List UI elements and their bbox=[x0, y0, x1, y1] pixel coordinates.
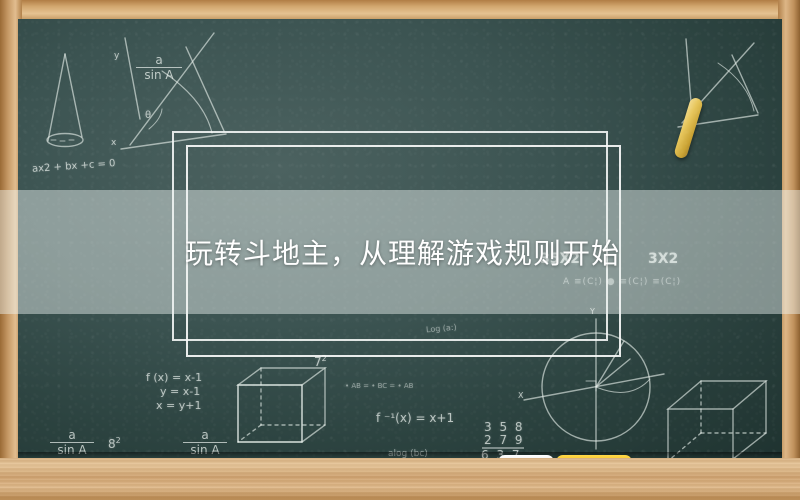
chalk-function-fx: f (x) = x-1 bbox=[146, 371, 202, 384]
fraction-numerator: a bbox=[183, 429, 227, 441]
chalk-column-row-2: 2 7 9 bbox=[484, 433, 525, 447]
page-title: 玩转斗地主，从理解游戏规则开始 bbox=[185, 232, 620, 272]
eight-exponent: 2 bbox=[116, 436, 121, 445]
fraction-numerator: a bbox=[136, 54, 182, 66]
chalk-dot-line-expression: • AB = • BC = • AB bbox=[345, 382, 413, 390]
chalk-column-row-1: 3 5 8 bbox=[484, 420, 525, 434]
chalk-function-x: x = y+1 bbox=[156, 399, 201, 412]
chalk-angle-theta-label: θ bbox=[145, 110, 151, 121]
chalk-axis-y-label-topleft: y bbox=[114, 51, 119, 61]
chalk-axis-x-label-right: X bbox=[518, 391, 523, 400]
chalk-axis-x-label-topleft: x bbox=[111, 138, 116, 148]
fraction-numerator: a bbox=[50, 429, 94, 441]
wooden-chalk-ledge bbox=[0, 458, 800, 500]
eight-base: 8 bbox=[108, 437, 116, 451]
chalk-eight-squared: 82 bbox=[108, 436, 121, 451]
screenshot-root: a sin A y x θ ax2 + bx +c = 0 f (x) = x-… bbox=[0, 0, 800, 500]
chalk-fraction-a-sinA-topleft: a sin A bbox=[136, 54, 182, 81]
chalk-function-y: y = x-1 bbox=[160, 385, 200, 398]
chalk-inverse-function: f ⁻¹(x) = x+1 bbox=[376, 411, 454, 425]
seven-base: 7 bbox=[314, 355, 322, 369]
fraction-denominator: sin A bbox=[136, 69, 182, 81]
